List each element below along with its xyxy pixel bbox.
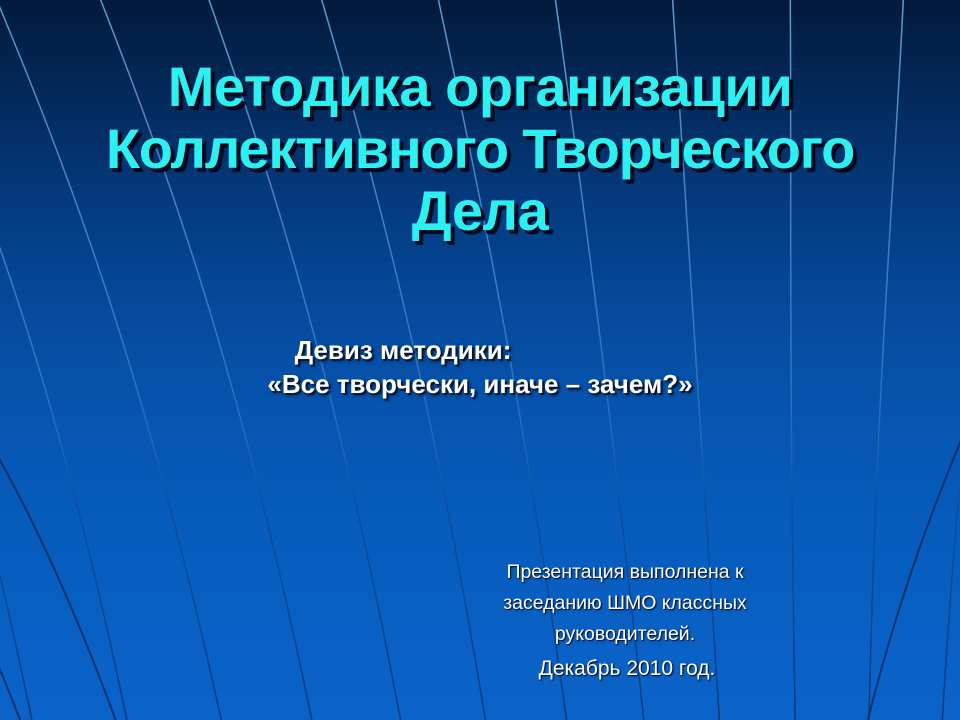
slide-motto: Девиз методики: «Все творчески, иначе – … (0, 333, 960, 401)
slide-credits: Презентация выполнена к заседанию ШМО кл… (0, 557, 960, 687)
presentation-slide: Методика организации Коллективного Творч… (0, 0, 960, 720)
title-line-1: Методика организации (6, 56, 954, 118)
motto-heading: Девиз методики: (0, 333, 960, 367)
title-line-3: Дела (6, 180, 954, 242)
slide-title: Методика организации Коллективного Творч… (0, 56, 960, 242)
credit-line-2: заседанию ШМО классных (290, 588, 960, 619)
credit-line-3: руководителей. (290, 619, 960, 650)
title-line-2: Коллективного Творческого (6, 118, 954, 180)
motto-quote: «Все творчески, иначе – зачем?» (0, 367, 960, 401)
credit-line-1: Презентация выполнена к (290, 557, 960, 588)
credit-date: Декабрь 2010 год. (290, 650, 960, 687)
